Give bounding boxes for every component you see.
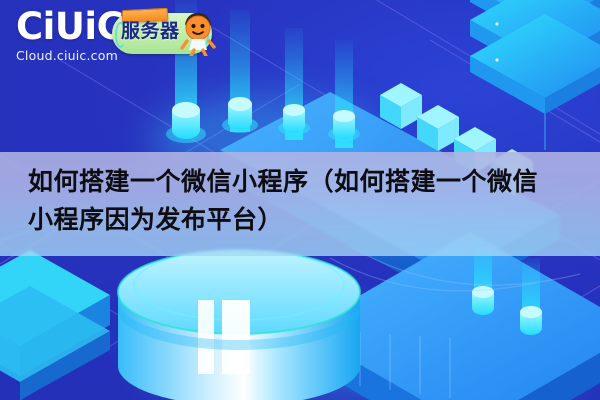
logo-wordmark: CiUiC bbox=[16, 8, 123, 45]
title-line-1: 如何搭建一个微信小程序（如何搭建一个微信 bbox=[28, 163, 582, 201]
brand-logo[interactable]: CiUiC Cloud.ciuic.com bbox=[16, 8, 123, 63]
banner-image: CiUiC Cloud.ciuic.com 服务器 如何搭建一个 bbox=[0, 0, 600, 400]
title-line-2: 小程序因为发布平台） bbox=[28, 201, 582, 239]
server-rack-stack bbox=[470, 0, 600, 150]
database-cylinder bbox=[118, 250, 360, 400]
badge-label: 服务器 bbox=[121, 22, 180, 41]
logo-subtitle: Cloud.ciuic.com bbox=[16, 50, 123, 63]
orange-mascot-icon bbox=[175, 8, 221, 56]
isometric-platform bbox=[0, 250, 110, 400]
page-title: 如何搭建一个微信小程序（如何搭建一个微信 小程序因为发布平台） bbox=[28, 163, 582, 239]
server-badge[interactable]: 服务器 bbox=[112, 13, 212, 54]
